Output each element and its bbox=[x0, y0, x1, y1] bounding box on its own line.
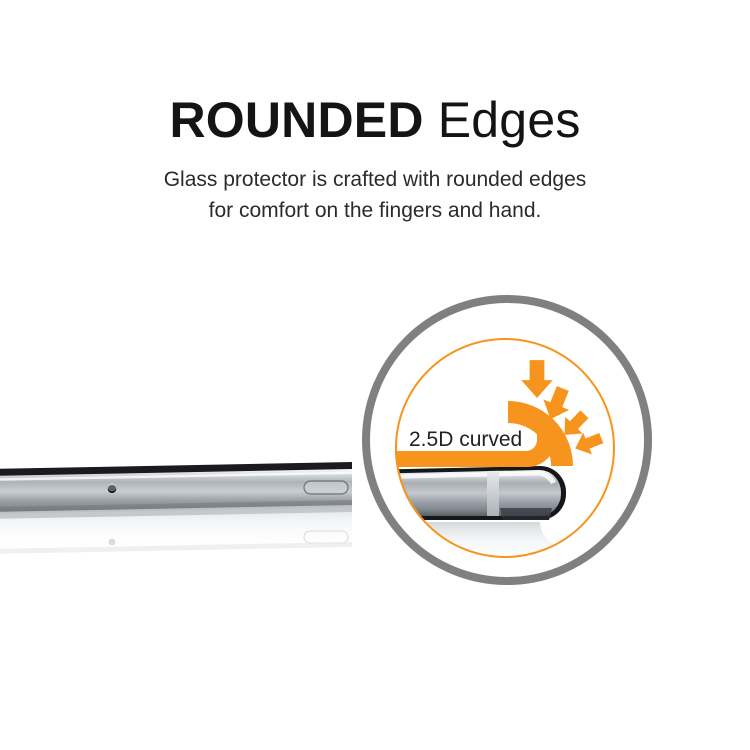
volume-button-face bbox=[305, 482, 347, 493]
callout-label: 2.5D curved bbox=[409, 428, 522, 451]
reflection-microphone bbox=[109, 539, 116, 545]
reflection-magnified-body bbox=[360, 522, 564, 572]
microphone-hole-highlight bbox=[108, 483, 116, 491]
device-reflection bbox=[0, 507, 352, 554]
product-feature-slide: ROUNDED Edges Glass protector is crafted… bbox=[0, 0, 750, 750]
antenna-band bbox=[487, 471, 499, 516]
illustration: 2.5D curved bbox=[0, 0, 750, 750]
device-magnified-foot-shadow bbox=[502, 516, 550, 520]
device-magnified-reflection bbox=[360, 522, 564, 572]
